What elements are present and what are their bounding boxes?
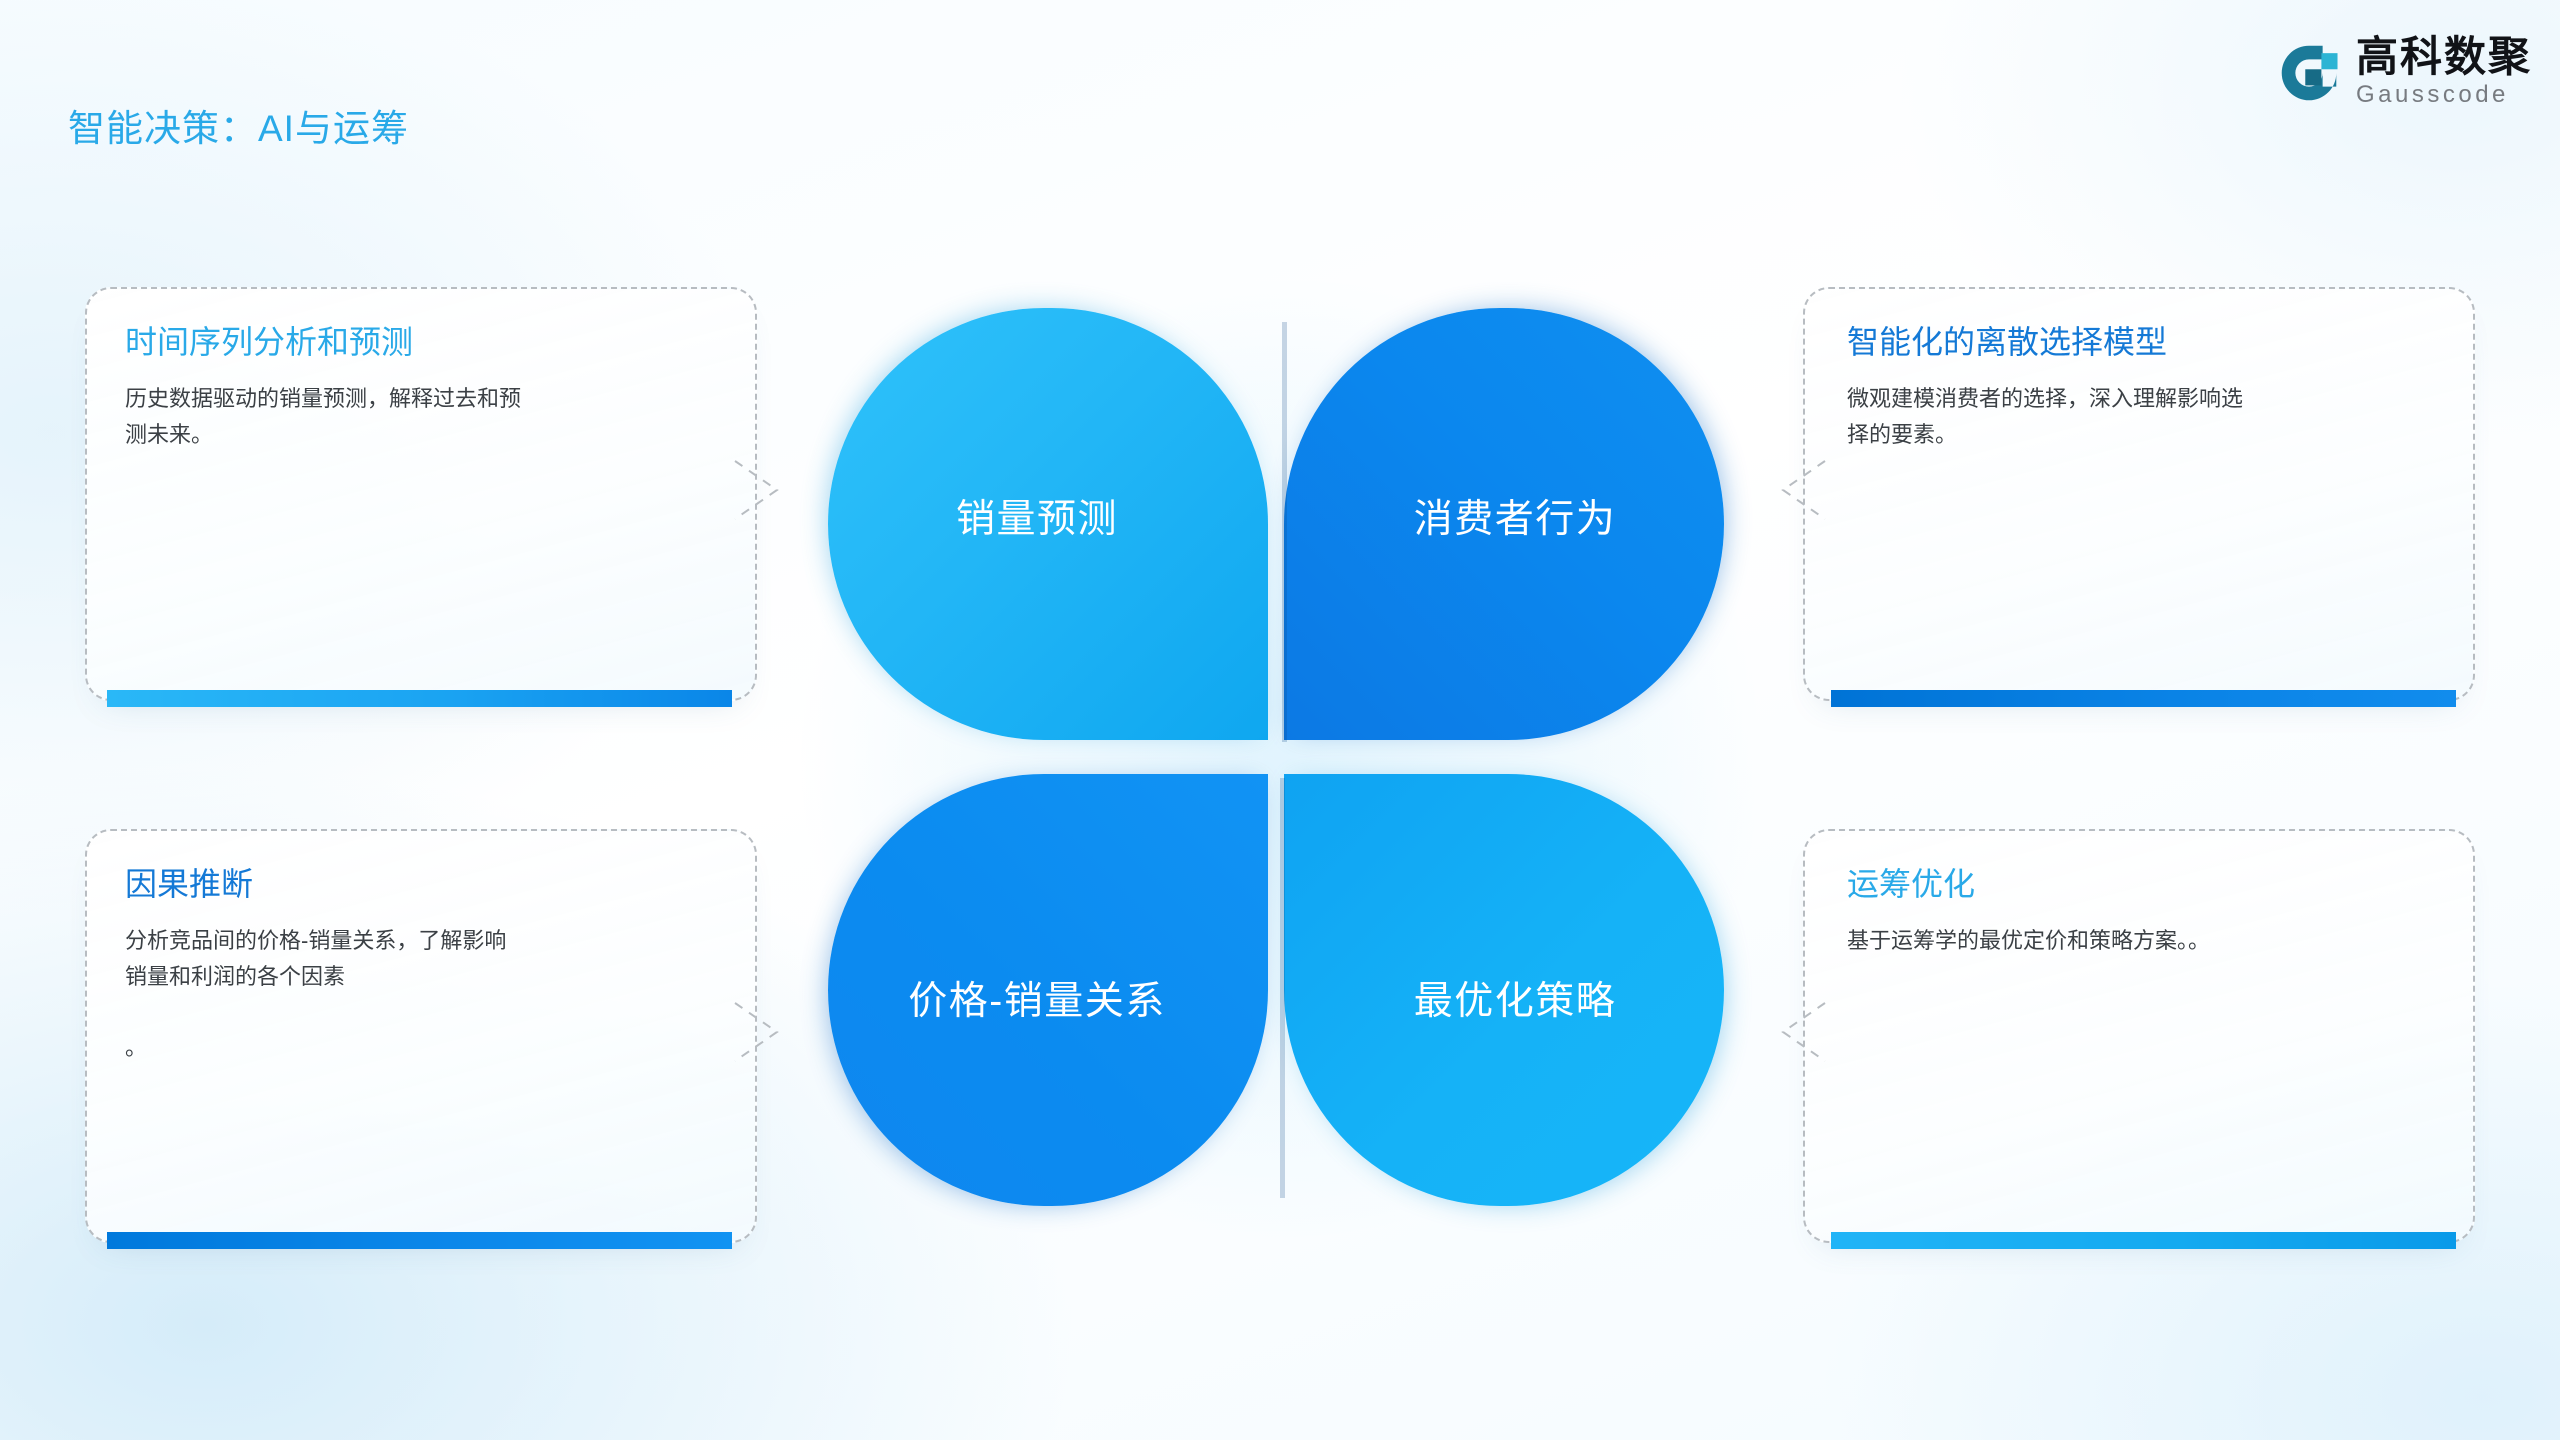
card-title: 因果推断	[125, 865, 253, 903]
connector-arrow-icon	[733, 1001, 781, 1063]
card-title: 运筹优化	[1847, 865, 1975, 903]
card-description: 历史数据驱动的销量预测，解释过去和预 测未来。	[125, 381, 685, 452]
logo-name-cn: 高科数聚	[2356, 36, 2532, 79]
petal-label: 销量预测	[956, 488, 1118, 544]
petal-label: 最优化策略	[1414, 970, 1617, 1026]
petal-optimal-strategy[interactable]: 最优化策略	[1284, 774, 1724, 1206]
petal-sales-forecast[interactable]: 销量预测	[828, 308, 1268, 740]
connector-arrow-icon	[733, 459, 781, 521]
card-description: 微观建模消费者的选择，深入理解影响选 择的要素。	[1847, 381, 2407, 452]
card-accent-bar	[1831, 1232, 2456, 1249]
card-title: 时间序列分析和预测	[125, 323, 413, 361]
connector-arrow-icon	[1779, 459, 1827, 521]
petal-consumer-behavior[interactable]: 消费者行为	[1284, 308, 1724, 740]
flower-diagram: 销量预测 消费者行为 价格-销量关系 最优化策略	[828, 308, 1734, 1208]
petal-label: 价格-销量关系	[908, 970, 1166, 1026]
card-accent-bar	[1831, 690, 2456, 707]
brand-logo: 高科数聚 Gausscode	[2278, 36, 2532, 110]
card-description: 基于运筹学的最优定价和策略方案。。	[1847, 923, 2407, 959]
petal-price-volume[interactable]: 价格-销量关系	[828, 774, 1268, 1206]
card-discrete-choice[interactable]: 智能化的离散选择模型 微观建模消费者的选择，深入理解影响选 择的要素。	[1803, 287, 2475, 701]
card-causal-inference[interactable]: 因果推断 分析竞品间的价格-销量关系，了解影响 销量和利润的各个因素 。	[85, 829, 757, 1243]
connector-arrow-icon	[1779, 1001, 1827, 1063]
card-accent-bar	[107, 1232, 732, 1249]
petal-label: 消费者行为	[1414, 488, 1617, 544]
card-description: 分析竞品间的价格-销量关系，了解影响 销量和利润的各个因素 。	[125, 923, 685, 1066]
card-accent-bar	[107, 690, 732, 707]
card-time-series[interactable]: 时间序列分析和预测 历史数据驱动的销量预测，解释过去和预 测未来。	[85, 287, 757, 701]
card-title: 智能化的离散选择模型	[1847, 323, 2167, 361]
card-operations-optimization[interactable]: 运筹优化 基于运筹学的最优定价和策略方案。。	[1803, 829, 2475, 1243]
logo-name-en: Gausscode	[2356, 81, 2532, 110]
gausscode-logo-icon	[2278, 42, 2340, 104]
slide-canvas: 智能决策：AI与运筹 高科数聚 Gausscode 时间序列分析和预测 历史数据…	[0, 0, 2560, 1440]
logo-text: 高科数聚 Gausscode	[2356, 36, 2532, 110]
page-title: 智能决策：AI与运筹	[68, 98, 409, 152]
